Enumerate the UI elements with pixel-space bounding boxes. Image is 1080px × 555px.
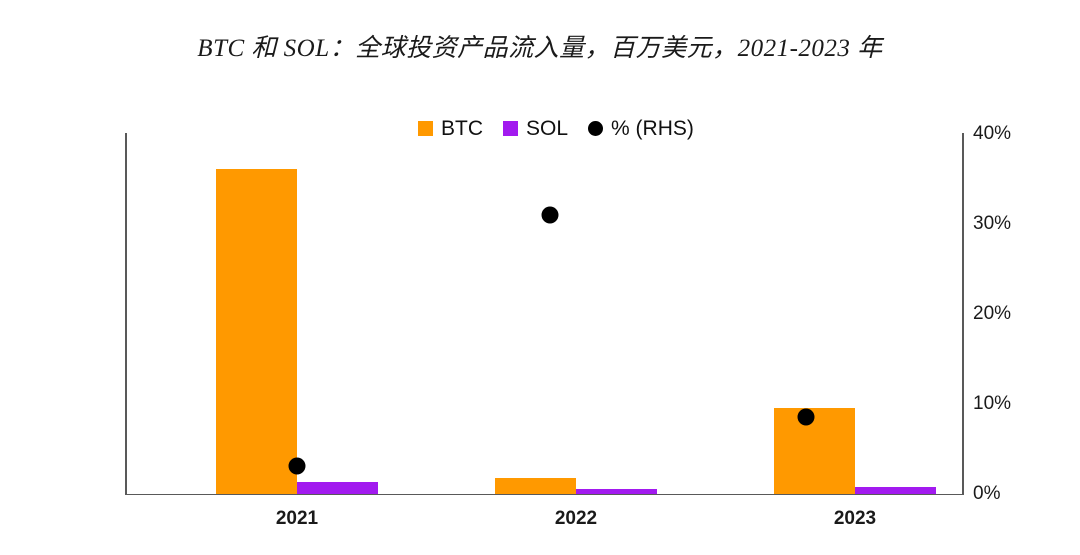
bar-sol-2021[interactable] xyxy=(297,482,378,494)
y-axis-right-tick-20: 20% xyxy=(973,304,1011,323)
chart-container: BTC 和 SOL：全球投资产品流入量，百万美元，2021-2023 年 BTC… xyxy=(0,0,1080,555)
x-axis-label-2021: 2021 xyxy=(216,508,378,530)
bar-sol-2023[interactable] xyxy=(855,487,936,494)
dot-pct-2023[interactable] xyxy=(798,408,815,425)
bar-sol-2022[interactable] xyxy=(576,489,657,494)
y-axis-right-tick-30: 30% xyxy=(973,214,1011,233)
y-axis-right-tick-40: 40% xyxy=(973,124,1011,143)
dot-pct-2022[interactable] xyxy=(542,207,559,224)
y-axis-right-tick-10: 10% xyxy=(973,394,1011,413)
bar-btc-2022[interactable] xyxy=(495,478,576,494)
plot-area xyxy=(125,134,963,494)
x-axis-label-2022: 2022 xyxy=(495,508,657,530)
bar-btc-2021[interactable] xyxy=(216,169,297,494)
y-axis-right-tick-0: 0% xyxy=(973,484,1000,503)
bar-btc-2023[interactable] xyxy=(774,408,855,494)
chart-title: BTC 和 SOL：全球投资产品流入量，百万美元，2021-2023 年 xyxy=(0,28,1080,64)
x-axis-label-2023: 2023 xyxy=(774,508,936,530)
dot-pct-2021[interactable] xyxy=(289,458,306,475)
